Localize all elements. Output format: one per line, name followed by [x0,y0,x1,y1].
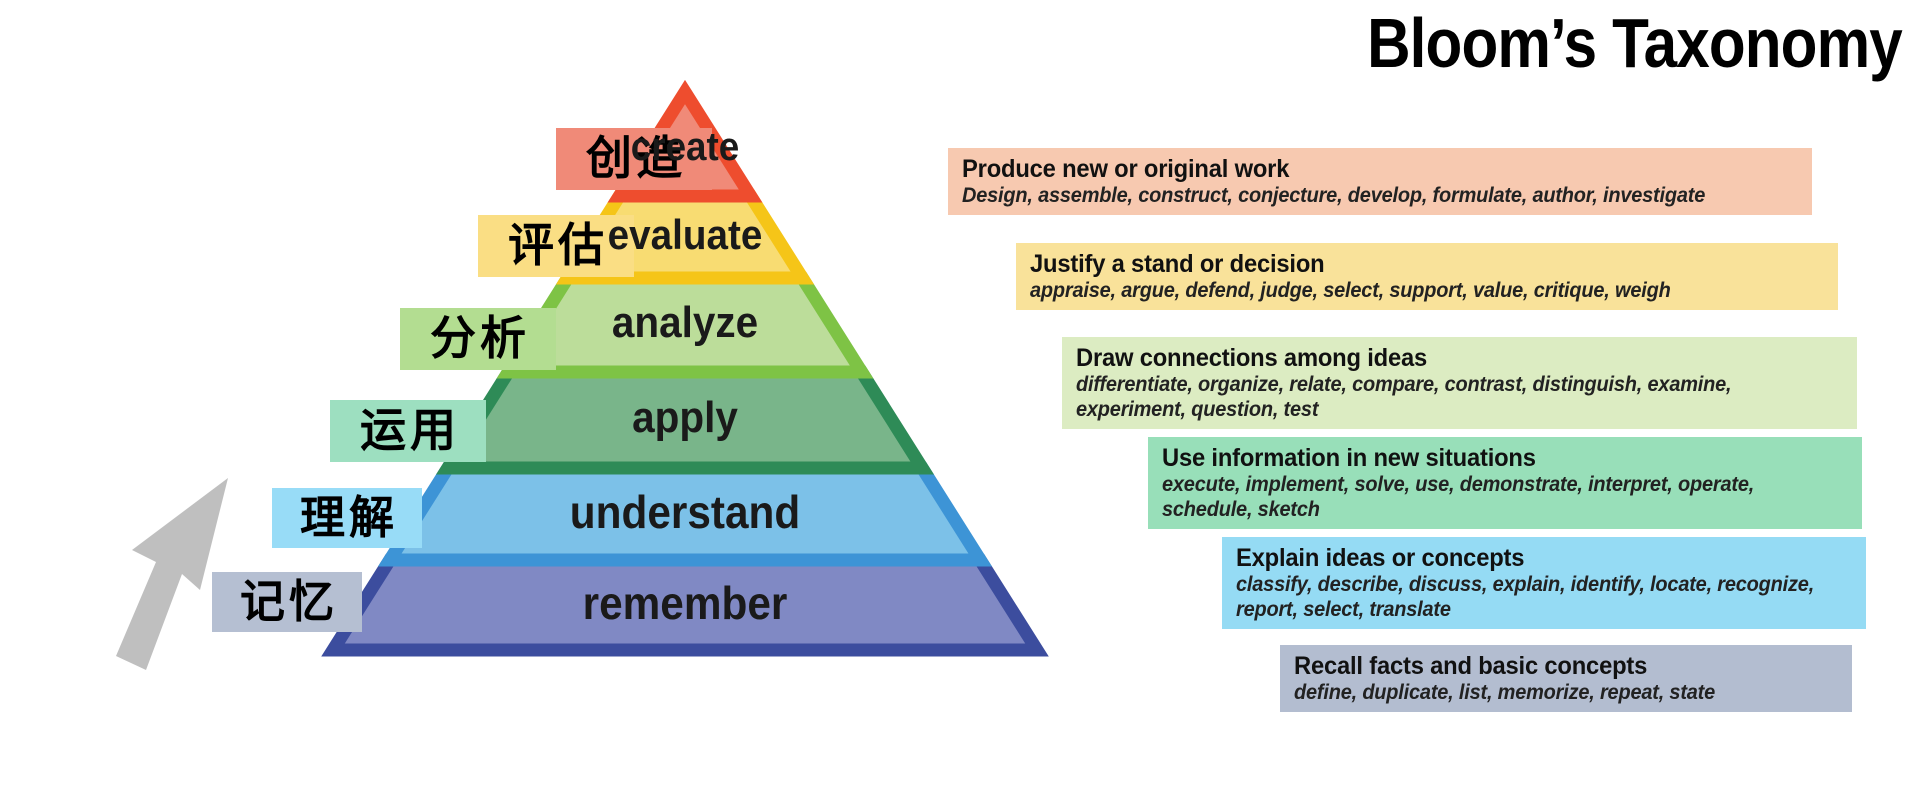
chinese-label-create: 创造 [556,128,712,190]
pyramid-tier-analyze[interactable] [508,278,861,372]
chinese-label-apply: 运用 [330,400,486,462]
panel-heading: Produce new or original work [962,155,1770,183]
panel-heading: Use information in new situations [1162,444,1827,472]
description-panel-evaluate: Justify a stand or decision appraise, ar… [1016,243,1838,310]
description-panel-remember: Recall facts and basic concepts define, … [1280,645,1852,712]
panel-verbs: execute, implement, solve, use, demonstr… [1162,472,1827,522]
pyramid-tier-apply[interactable] [448,372,922,468]
panel-verbs: define, duplicate, list, memorize, repea… [1294,680,1824,705]
description-panel-understand: Explain ideas or concepts classify, desc… [1222,537,1866,629]
pyramid-tier-remember[interactable] [333,560,1037,650]
arrow-svg [60,470,280,760]
pyramid-tier-understand[interactable] [390,468,980,560]
description-panel-analyze: Draw connections among ideas differentia… [1062,337,1857,429]
chinese-label-analyze: 分析 [400,308,556,370]
panel-verbs: appraise, argue, defend, judge, select, … [1030,278,1798,303]
panel-verbs: differentiate, organize, relate, compare… [1076,372,1818,422]
description-panel-create: Produce new or original work Design, ass… [948,148,1812,215]
panel-verbs: classify, describe, discuss, explain, id… [1236,572,1835,622]
panel-heading: Justify a stand or decision [1030,250,1798,278]
progression-arrow-icon [60,470,280,760]
chinese-label-understand: 理解 [272,488,422,548]
description-panel-apply: Use information in new situations execut… [1148,437,1862,529]
panel-heading: Recall facts and basic concepts [1294,652,1824,680]
chinese-label-evaluate: 评估 [478,215,634,277]
panel-heading: Explain ideas or concepts [1236,544,1835,572]
panel-verbs: Design, assemble, construct, conjecture,… [962,183,1770,208]
panel-heading: Draw connections among ideas [1076,344,1818,372]
